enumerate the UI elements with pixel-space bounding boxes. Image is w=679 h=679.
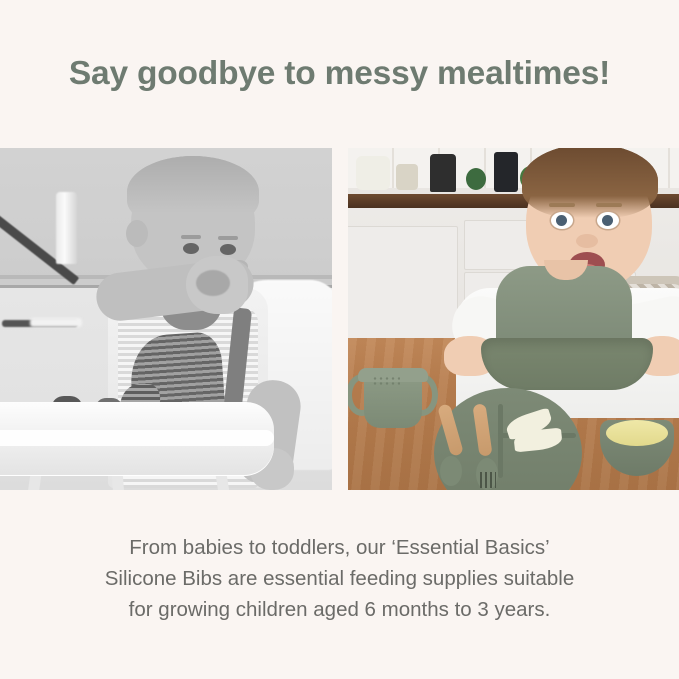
plate-divider-vertical: [498, 404, 503, 478]
body-copy-line-3: for growing children aged 6 months to 3 …: [105, 594, 575, 625]
photo-row: [0, 148, 679, 490]
bw-baby-eye-left: [183, 243, 199, 254]
baby-pupil-left: [556, 215, 567, 226]
baby-brow-left: [549, 203, 575, 207]
bw-bottle: [56, 192, 77, 264]
baby-brow-right: [596, 203, 622, 207]
bw-baby-hair-top: [127, 156, 259, 228]
photo-left-messy-baby: [0, 148, 332, 490]
bw-baby-ear: [126, 220, 148, 247]
spoon-bowl: [440, 456, 462, 486]
bw-tray-lip: [0, 430, 274, 446]
bib-catch-pocket: [481, 338, 653, 390]
sippy-cup-vent-holes: [372, 376, 400, 386]
bw-baby-brow-left: [181, 235, 201, 239]
bw-baby-hand-food: [196, 270, 230, 296]
baby-pupil-right: [602, 215, 613, 226]
cabinet-door: [348, 226, 458, 356]
bowl-puree: [606, 420, 668, 446]
body-copy-line-2: Silicone Bibs are essential feeding supp…: [105, 563, 575, 594]
bw-scene: [0, 148, 332, 490]
headline-section: Say goodbye to messy mealtimes!: [0, 0, 679, 148]
baby-hair-front: [522, 148, 658, 218]
product-banner: Say goodbye to messy mealtimes!: [0, 0, 679, 679]
baby-nose: [576, 234, 598, 248]
body-copy: From babies to toddlers, our ‘Essential …: [105, 532, 575, 625]
fork-tines: [480, 472, 496, 488]
bw-baby-eye-right: [220, 244, 236, 255]
body-copy-section: From babies to toddlers, our ‘Essential …: [0, 490, 679, 679]
bw-baby-brow-right: [218, 236, 238, 240]
body-copy-line-1: From babies to toddlers, our ‘Essential …: [105, 532, 575, 563]
bw-drawer-highlight: [30, 318, 82, 327]
headline-text: Say goodbye to messy mealtimes!: [69, 55, 610, 93]
color-scene: [348, 148, 679, 490]
photo-right-bib-product: [348, 148, 679, 490]
